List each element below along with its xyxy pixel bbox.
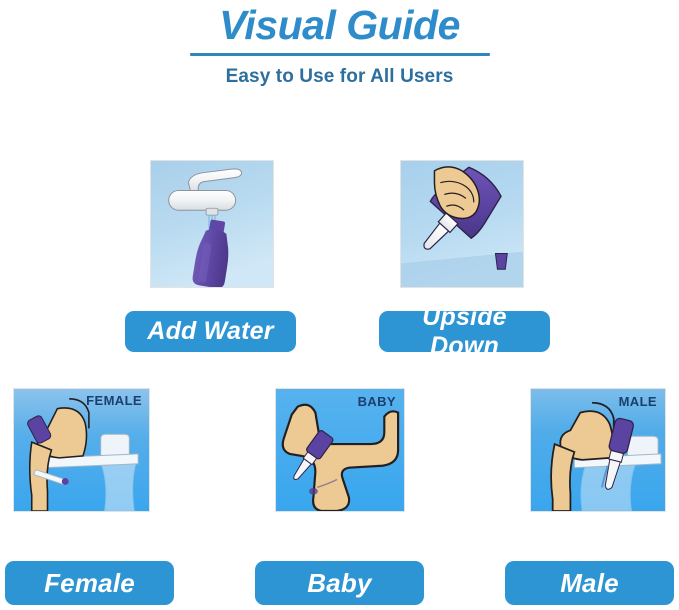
user-panel-female: FEMALE — [13, 388, 150, 512]
page-subtitle: Easy to Use for All Users — [0, 56, 679, 88]
button-upside-down[interactable]: Upside Down — [379, 311, 550, 352]
page-title: Visual Guide — [0, 0, 679, 48]
button-add-water[interactable]: Add Water — [125, 311, 296, 352]
page-header: Visual Guide Easy to Use for All Users — [0, 0, 679, 88]
user-panel-baby: BABY — [275, 388, 405, 512]
panel-label-female: FEMALE — [86, 393, 142, 408]
button-baby[interactable]: Baby — [255, 561, 424, 605]
step-panel-upside-down — [400, 160, 524, 288]
step-panel-add-water — [150, 160, 274, 288]
hand-holding-inverted-bottle-icon — [401, 161, 523, 287]
panel-label-baby: BABY — [358, 394, 396, 409]
user-panel-male: MALE — [530, 388, 666, 512]
faucet-filling-bottle-icon — [151, 161, 273, 287]
panel-label-male: MALE — [619, 394, 657, 409]
button-male[interactable]: Male — [505, 561, 674, 605]
button-female[interactable]: Female — [5, 561, 174, 605]
